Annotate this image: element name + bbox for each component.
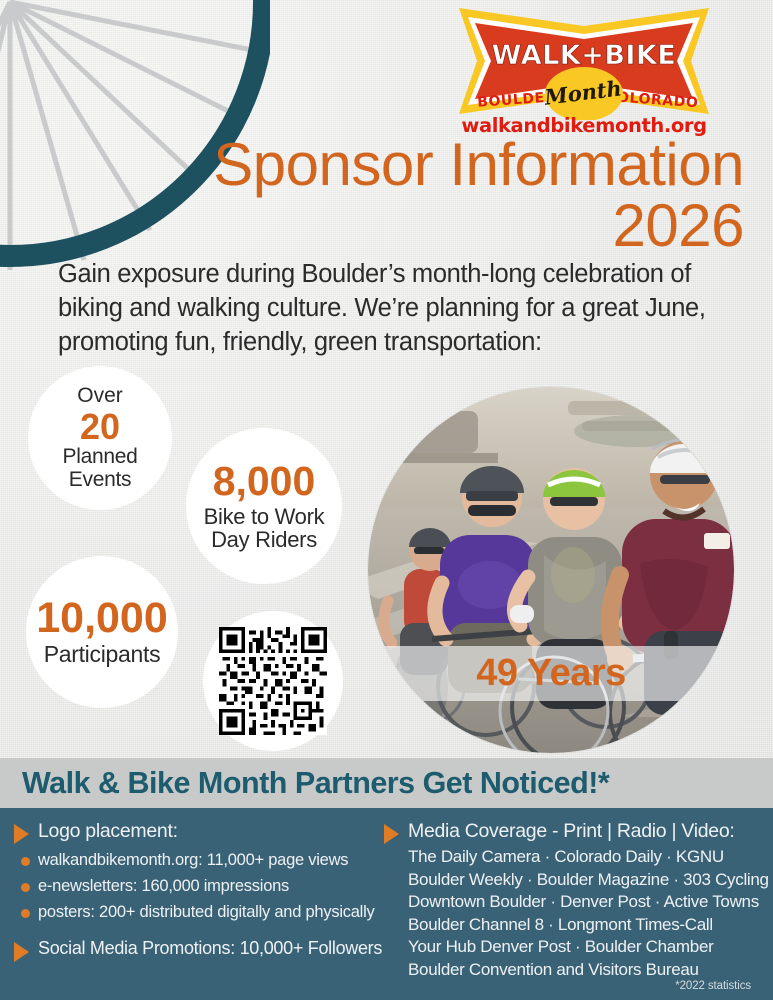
page-title-line2: 2026 <box>0 195 744 256</box>
stat-events-value: 20 <box>80 409 120 445</box>
bullet-text: walkandbikemonth.org: 11,000+ page views <box>38 851 348 870</box>
stat-participants-value: 10,000 <box>36 597 168 640</box>
poster-canvas: WALK+BIKE BOULDER COLORADO Month walkand… <box>0 0 773 1000</box>
stat-btw-value: 8,000 <box>213 461 316 502</box>
media-outlet-line: Your Hub Denver Post · Boulder Chamber <box>408 936 773 959</box>
media-outlet-line: Boulder Convention and Visitors Bureau <box>408 959 773 982</box>
partners-right-column: Media Coverage - Print | Radio | Video: … <box>370 808 773 982</box>
stat-events-label-line1: Planned <box>63 446 138 468</box>
walk-bike-month-logo[interactable]: WALK+BIKE BOULDER COLORADO Month walkand… <box>455 2 713 147</box>
stat-circle-planned-events: Over 20 Planned Events <box>28 366 172 510</box>
stat-events-label-line2: Events <box>69 469 131 491</box>
logo-placement-heading: Logo placement: <box>38 820 178 843</box>
stat-participants-label: Participants <box>44 642 161 666</box>
logo-brand-text: WALK+BIKE <box>492 40 677 71</box>
stat-events-prefix: Over <box>77 385 123 407</box>
qr-code-circle[interactable] <box>203 611 343 751</box>
statistics-footnote: *2022 statistics <box>675 980 751 992</box>
stat-btw-label-line2: Day Riders <box>211 528 317 551</box>
bullet-text: posters: 200+ distributed digitally and … <box>38 903 375 922</box>
list-item: e-newsletters: 160,000 impressions <box>21 877 390 896</box>
dot-bullet-icon <box>21 857 30 866</box>
dot-bullet-icon <box>21 883 30 892</box>
list-item: walkandbikemonth.org: 11,000+ page views <box>21 851 390 870</box>
bullet-text: e-newsletters: 160,000 impressions <box>38 877 289 896</box>
years-overlay-text: 49 Years <box>368 646 734 701</box>
media-outlet-line: The Daily Camera · Colorado Daily · KGNU <box>408 846 773 869</box>
logo-placement-bullets: walkandbikemonth.org: 11,000+ page views… <box>0 851 390 922</box>
logo-placement-heading-row: Logo placement: <box>0 808 390 844</box>
media-outlet-line: Boulder Weekly · Boulder Magazine · 303 … <box>408 869 773 892</box>
qr-code-icon <box>219 627 327 735</box>
logo-website-url[interactable]: walkandbikemonth.org <box>455 114 713 137</box>
media-outlet-line: Downtown Boulder · Denver Post · Active … <box>408 891 773 914</box>
stat-circle-participants: 10,000 Participants <box>26 556 178 708</box>
partners-banner-title: Walk & Bike Month Partners Get Noticed!* <box>0 766 609 801</box>
stat-btw-label-line1: Bike to Work <box>204 505 325 528</box>
triangle-bullet-icon <box>384 824 399 844</box>
list-item: posters: 200+ distributed digitally and … <box>21 903 390 922</box>
triangle-bullet-icon <box>14 942 29 962</box>
media-coverage-heading-row: Media Coverage - Print | Radio | Video: <box>370 808 773 844</box>
partners-banner: Walk & Bike Month Partners Get Noticed!* <box>0 758 773 808</box>
stat-circle-bike-to-work: 8,000 Bike to Work Day Riders <box>186 428 342 584</box>
social-media-heading-row: Social Media Promotions: 10,000+ Followe… <box>0 938 390 962</box>
years-overlay-band: 49 Years <box>368 646 734 701</box>
intro-paragraph: Gain exposure during Boulder’s month-lon… <box>58 258 748 360</box>
media-outlets-list: The Daily Camera · Colorado Daily · KGNU… <box>370 846 773 982</box>
media-coverage-heading: Media Coverage - Print | Radio | Video: <box>408 820 735 843</box>
dot-bullet-icon <box>21 909 30 918</box>
media-outlet-line: Boulder Channel 8 · Longmont Times-Call <box>408 914 773 937</box>
page-title: Sponsor Information 2026 <box>0 134 760 256</box>
partners-left-column: Logo placement: walkandbikemonth.org: 11… <box>0 808 390 962</box>
social-media-heading: Social Media Promotions: 10,000+ Followe… <box>38 938 382 959</box>
partners-panel: Logo placement: walkandbikemonth.org: 11… <box>0 808 773 1000</box>
triangle-bullet-icon <box>14 824 29 844</box>
cyclists-photo: 49 Years <box>368 387 734 753</box>
